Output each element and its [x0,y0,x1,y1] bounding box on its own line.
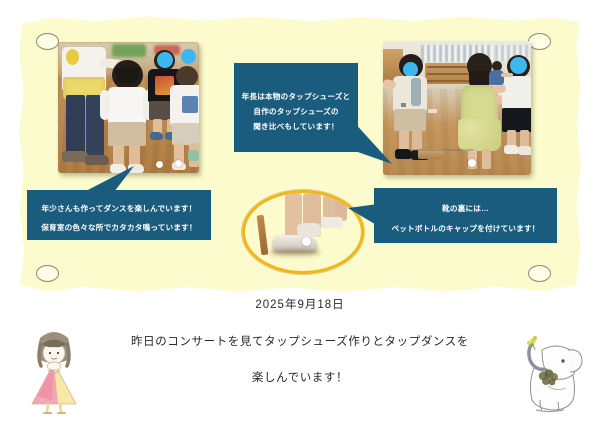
callout-older-children: 年長は本物のタップシューズと 自作のタップシューズの 聞き比べもしています！ [234,63,358,152]
photo-toddlers-dancing [58,42,199,173]
callout-younger-line-2: 保育室の色々な所でカタカタ鳴っています！ [33,218,205,237]
hole-bottom-right [528,265,551,282]
callout-shoe-sole: 靴の裏には… ペットボトルのキャップを付けています！ [374,188,557,243]
callout-older-line-1: 年長は本物のタップシューズと [239,89,353,104]
photo-older-children-hall [383,41,531,175]
mascot-girl-watercolor [18,326,90,414]
date-text: 2025年9月18日 [0,296,600,312]
callout-younger-children: 年少さんも作ってダンスを楽しんでいます！ 保育室の色々な所でカタカタ鳴っています… [27,190,211,240]
callout-sole-line-1: 靴の裏には… [380,199,551,219]
callout-older-line-2: 自作のタップシューズの [239,104,353,119]
photo-shoes-closeup [242,190,364,274]
hole-bottom-left [36,265,59,282]
callout-younger-line-1: 年少さんも作ってダンスを楽しんでいます！ [33,199,205,218]
screenshot-root: 年少さんも作ってダンスを楽しんでいます！ 保育室の色々な所でカタカタ鳴っています… [0,0,600,424]
mascot-elephant-watercolor [508,328,590,414]
callout-sole-line-2: ペットボトルのキャップを付けています！ [380,219,551,239]
callout-older-line-3: 聞き比べもしています！ [239,119,353,134]
hole-top-left [36,33,59,50]
hole-top-right [528,33,551,50]
